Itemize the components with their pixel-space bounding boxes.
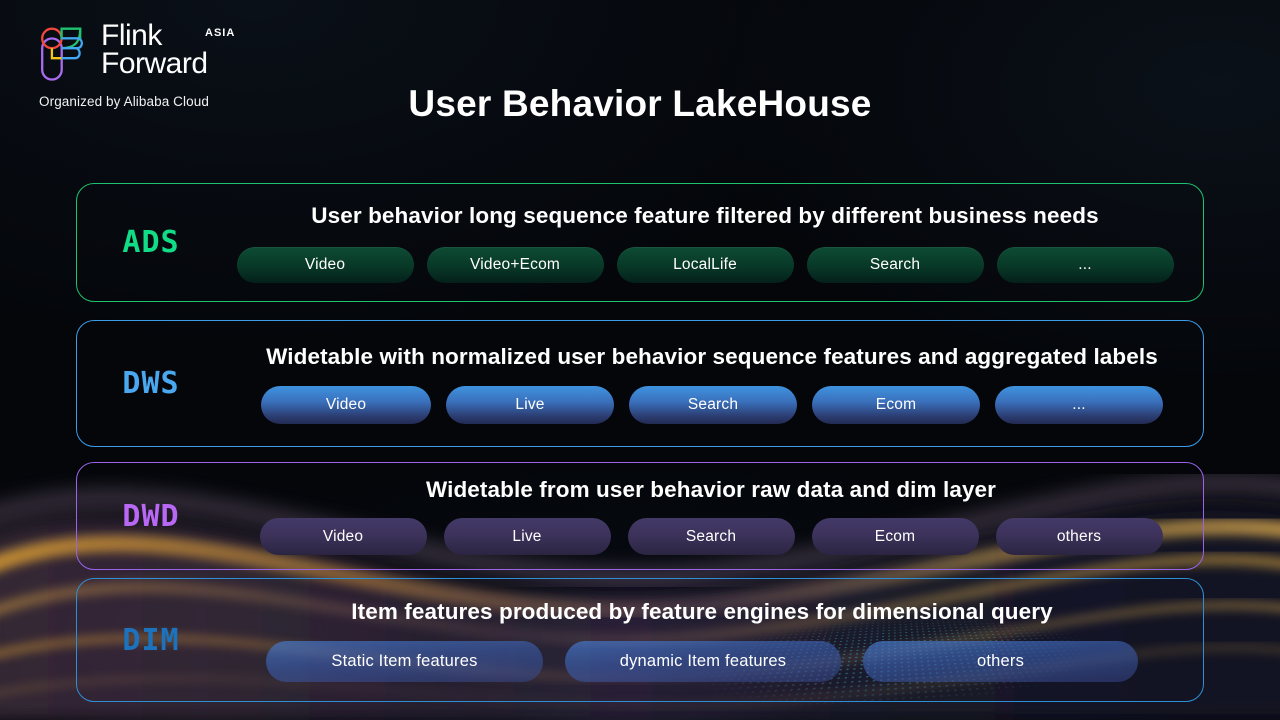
pill-ads-video[interactable]: Video bbox=[237, 247, 414, 283]
brand-wordmark: Flink Forward ASIA bbox=[101, 22, 208, 78]
layer-body-dwd: Widetable from user behavior raw data an… bbox=[225, 477, 1203, 555]
flink-forward-logo-icon bbox=[39, 25, 87, 83]
page-title: User Behavior LakeHouse bbox=[0, 83, 1280, 125]
layer-tag-ads: ADS bbox=[77, 225, 225, 260]
layer-tag-dim: DIM bbox=[77, 623, 225, 658]
layer-dws: DWS Widetable with normalized user behav… bbox=[76, 320, 1204, 447]
pill-dwd-video[interactable]: Video bbox=[260, 518, 427, 555]
pill-row-dws: Video Live Search Ecom ... bbox=[261, 386, 1163, 424]
pill-dws-ecom[interactable]: Ecom bbox=[812, 386, 980, 424]
pill-dim-others[interactable]: others bbox=[863, 641, 1138, 682]
layer-body-dws: Widetable with normalized user behavior … bbox=[225, 344, 1203, 424]
pill-dws-search[interactable]: Search bbox=[629, 386, 797, 424]
pill-row-dwd: Video Live Search Ecom others bbox=[260, 518, 1163, 555]
pill-dws-live[interactable]: Live bbox=[446, 386, 614, 424]
layer-tag-dwd: DWD bbox=[77, 499, 225, 534]
layer-dwd: DWD Widetable from user behavior raw dat… bbox=[76, 462, 1204, 570]
pill-dwd-search[interactable]: Search bbox=[628, 518, 795, 555]
pill-ads-search[interactable]: Search bbox=[807, 247, 984, 283]
pill-dwd-ecom[interactable]: Ecom bbox=[812, 518, 979, 555]
layer-body-dim: Item features produced by feature engine… bbox=[225, 599, 1203, 682]
pill-ads-locallife[interactable]: LocalLife bbox=[617, 247, 794, 283]
layer-dim: DIM Item features produced by feature en… bbox=[76, 578, 1204, 702]
pill-ads-video-ecom[interactable]: Video+Ecom bbox=[427, 247, 604, 283]
brand-name-line1: Flink bbox=[101, 22, 208, 50]
layer-heading-ads: User behavior long sequence feature filt… bbox=[311, 203, 1098, 229]
pill-dim-static-item-features[interactable]: Static Item features bbox=[266, 641, 543, 682]
brand-region-label: ASIA bbox=[205, 28, 235, 38]
pill-row-dim: Static Item features dynamic Item featur… bbox=[266, 641, 1138, 682]
pill-dim-dynamic-item-features[interactable]: dynamic Item features bbox=[565, 641, 841, 682]
pill-dwd-others[interactable]: others bbox=[996, 518, 1163, 555]
pill-ads-more[interactable]: ... bbox=[997, 247, 1174, 283]
pill-dws-video[interactable]: Video bbox=[261, 386, 431, 424]
layer-body-ads: User behavior long sequence feature filt… bbox=[225, 203, 1203, 283]
pill-dwd-live[interactable]: Live bbox=[444, 518, 611, 555]
layer-heading-dim: Item features produced by feature engine… bbox=[351, 599, 1052, 625]
layer-heading-dws: Widetable with normalized user behavior … bbox=[266, 344, 1158, 370]
layer-ads: ADS User behavior long sequence feature … bbox=[76, 183, 1204, 302]
layer-tag-dws: DWS bbox=[77, 366, 225, 401]
brand-name-line2: Forward bbox=[101, 50, 208, 78]
slide-canvas: Flink Forward ASIA Organized by Alibaba … bbox=[0, 0, 1280, 720]
pill-dws-more[interactable]: ... bbox=[995, 386, 1163, 424]
layer-heading-dwd: Widetable from user behavior raw data an… bbox=[426, 477, 996, 503]
pill-row-ads: Video Video+Ecom LocalLife Search ... bbox=[237, 247, 1174, 283]
